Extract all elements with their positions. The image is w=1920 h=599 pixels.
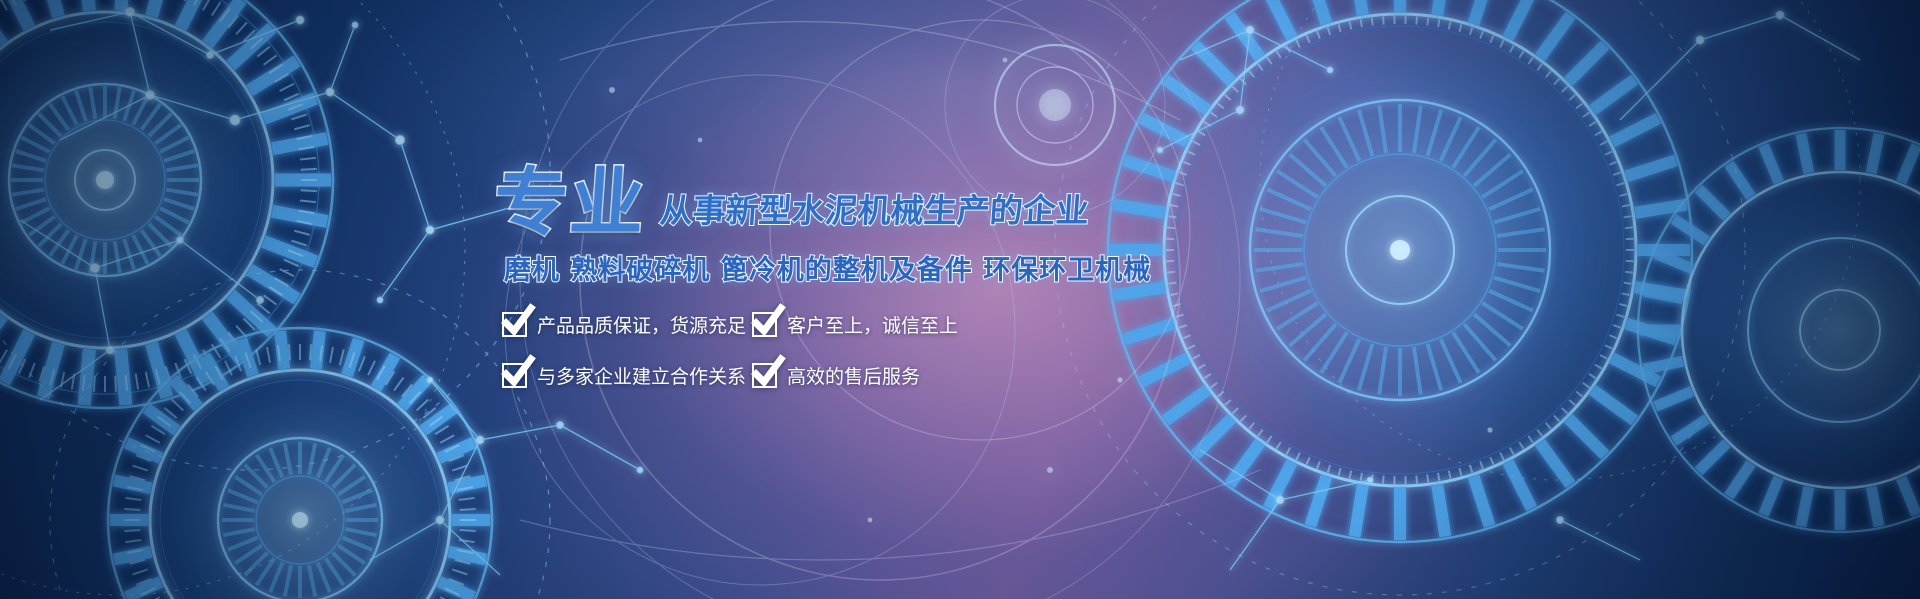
feature-label: 与多家企业建立合作关系 [537,362,746,389]
feature-list: 产品品质保证，货源充足 客户至上，诚信至上 与多家企业建立合作关系 [502,311,1114,389]
product-list-line: 磨机 熟料破碎机 篦冷机的整机及备件 环保环卫机械 [504,248,1114,287]
checkmark-icon [502,312,527,337]
banner-content: 专业 从事新型水泥机械生产的企业 磨机 熟料破碎机 篦冷机的整机及备件 环保环卫… [494,160,1114,389]
headline-primary: 专业 [492,168,649,238]
feature-item: 客户至上，诚信至上 [752,311,1002,338]
feature-item: 与多家企业建立合作关系 [502,362,752,389]
feature-label: 客户至上，诚信至上 [787,311,958,338]
feature-item: 产品品质保证，货源充足 [502,311,752,338]
feature-label: 产品品质保证，货源充足 [537,311,746,338]
hero-banner: 专业 从事新型水泥机械生产的企业 磨机 熟料破碎机 篦冷机的整机及备件 环保环卫… [0,0,1920,599]
feature-item: 高效的售后服务 [752,362,1002,389]
checkmark-icon [502,363,527,388]
checkmark-icon [752,363,777,388]
headline-secondary: 从事新型水泥机械生产的企业 [658,184,1090,232]
checkmark-icon [752,312,777,337]
headline-row: 专业 从事新型水泥机械生产的企业 [494,160,1114,238]
feature-label: 高效的售后服务 [787,362,920,389]
